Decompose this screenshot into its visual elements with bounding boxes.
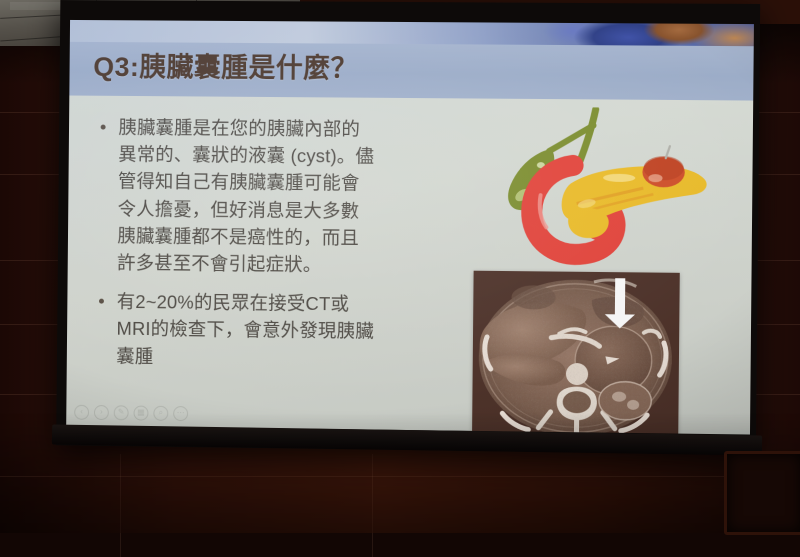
projected-slide: Q3:胰臟囊腫是什麼？ 胰臟囊腫是在您的胰臟內部的異常的、囊狀的液囊 (cyst… (66, 20, 754, 435)
pancreas-anatomy-illustration (466, 106, 724, 269)
bile-duct-icon (579, 109, 596, 163)
projection-screen-frame: Q3:胰臟囊腫是什麼？ 胰臟囊腫是在您的胰臟內部的異常的、囊狀的液囊 (cyst… (56, 0, 760, 455)
room-bottom-shadow (0, 413, 800, 533)
bullet-item-2: 有2~20%的民眾在接受CT或MRI的檢查下，會意外發現胰臟囊腫 (92, 288, 376, 373)
bullet-list: 胰臟囊腫是在您的胰臟內部的異常的、囊狀的液囊 (cyst)。儘管得知自己有胰臟囊… (92, 114, 378, 385)
abdominal-ct-scan (472, 271, 680, 435)
bullet-item-1: 胰臟囊腫是在您的胰臟內部的異常的、囊狀的液囊 (cyst)。儘管得知自己有胰臟囊… (93, 114, 378, 279)
conference-room-scene: Q3:胰臟囊腫是什麼？ 胰臟囊腫是在您的胰臟內部的異常的、囊狀的液囊 (cyst… (0, 0, 800, 533)
page-title: Q3:胰臟囊腫是什麼？ (93, 45, 358, 86)
needle-icon (666, 146, 670, 158)
wall-panel-bottom-right (724, 451, 800, 535)
